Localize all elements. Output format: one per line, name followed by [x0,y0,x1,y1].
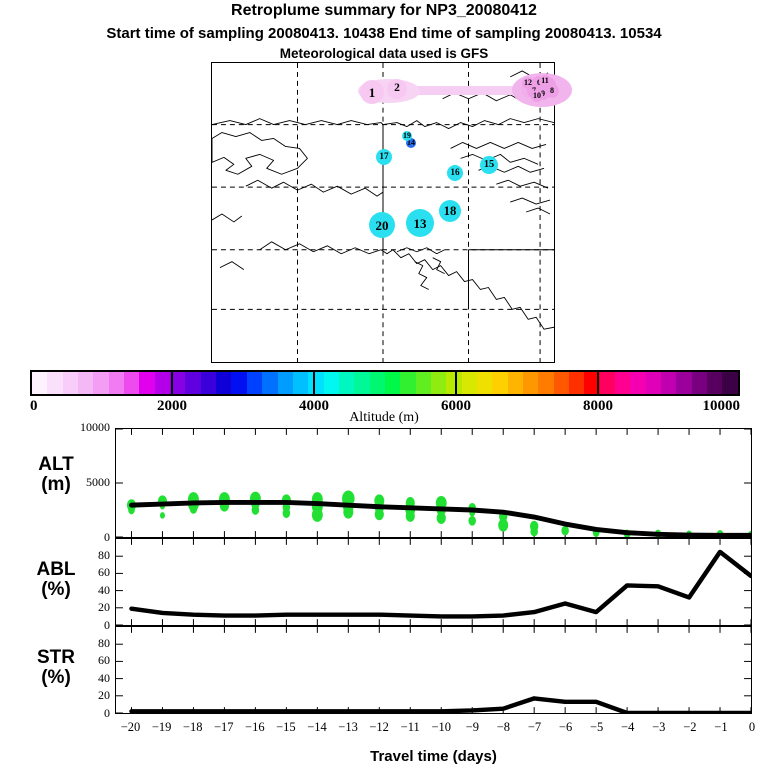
colorbar-segment [692,372,707,394]
abl-plot[interactable] [115,538,752,626]
colorbar-segment [262,372,277,394]
alt-scatter-point [283,508,291,518]
x-tick-label: −1 [704,720,738,735]
str-line [131,698,751,713]
colorbar-segment [185,372,200,394]
colorbar-segment [370,372,385,394]
colorbar-segment [676,372,691,394]
retroplume-map[interactable]: 1234567891011121314151617181920 [211,62,555,363]
colorbar-segment [646,372,661,394]
x-tick-label: −9 [455,720,489,735]
str-y-tick-label: 20 [36,688,110,703]
colorbar-segment [124,372,139,394]
colorbar-segment [600,372,615,394]
colorbar-segment [293,372,308,394]
colorbar [30,370,740,396]
colorbar-divider [455,370,457,396]
page-title: Retroplume summary for NP3_20080412 [0,2,768,20]
colorbar-segment [47,372,62,394]
x-tick-label: −11 [393,720,427,735]
alt-scatter-point [375,508,384,520]
alt-scatter-point [498,519,508,532]
abl-plot-graphic [116,539,751,625]
colorbar-segment [63,372,78,394]
map-marker-17[interactable]: 17 [376,149,392,165]
abl-line [131,552,751,617]
str-y-tick-label: 60 [36,653,110,668]
map-marker-11[interactable]: 11 [539,75,551,87]
x-tick-label: −12 [362,720,396,735]
abl-y-tick-label: 60 [36,565,110,580]
abl-y-tick-label: 40 [36,583,110,598]
colorbar-divider [597,370,599,396]
alt-scatter-point [406,510,415,522]
colorbar-segment [385,372,400,394]
map-marker-15[interactable]: 15 [480,156,498,174]
colorbar-segment [231,372,246,394]
sampling-time-line: Start time of sampling 20080413. 10438 E… [0,25,768,42]
colorbar-segment [155,372,170,394]
x-tick-label: 0 [735,720,768,735]
alt-scatter-point [561,526,569,536]
alt-y-tick-label: 0 [36,530,110,545]
x-tick-label: −5 [580,720,614,735]
colorbar-segment [722,372,737,394]
map-marker-13[interactable]: 13 [406,209,434,237]
map-marker-10[interactable]: 10 [531,90,543,102]
x-tick-label: −10 [424,720,458,735]
x-tick-label: −2 [673,720,707,735]
colorbar-gradient [30,370,740,396]
colorbar-divider [171,370,173,396]
alt-y-tick-label: 5000 [36,475,110,490]
colorbar-segment [554,372,569,394]
x-tick-label: −14 [300,720,334,735]
colorbar-segment [707,372,722,394]
map-marker-12[interactable]: 12 [522,77,534,89]
colorbar-segment [615,372,630,394]
colorbar-segment [431,372,446,394]
map-marker-16[interactable]: 16 [447,165,463,181]
colorbar-segment [630,372,645,394]
colorbar-segment [324,372,339,394]
x-tick-label: −19 [145,720,179,735]
map-marker-19[interactable]: 19 [402,131,412,141]
map-marker-20[interactable]: 20 [369,212,395,238]
str-plot[interactable] [115,626,752,714]
colorbar-segment [508,372,523,394]
x-tick-label: −16 [238,720,272,735]
colorbar-segment [201,372,216,394]
meteorology-line: Meteorological data used is GFS [0,46,768,61]
x-tick-label: −6 [549,720,583,735]
colorbar-segment [354,372,369,394]
colorbar-segment [339,372,354,394]
colorbar-segment [477,372,492,394]
colorbar-segment [523,372,538,394]
map-marker-1[interactable]: 1 [360,80,384,104]
alt-label-line1: ALT [8,455,104,475]
colorbar-segment [416,372,431,394]
str-y-tick-label: 40 [36,671,110,686]
colorbar-segment [93,372,108,394]
alt-plot[interactable] [115,428,752,538]
x-tick-label: −8 [486,720,520,735]
map-marker-2[interactable]: 2 [387,79,407,99]
colorbar-segment [492,372,507,394]
colorbar-segment [278,372,293,394]
colorbar-segment [538,372,553,394]
colorbar-divider [313,370,315,396]
colorbar-segment [661,372,676,394]
str-y-tick-label: 0 [36,706,110,721]
colorbar-segment [569,372,584,394]
alt-scatter-point [468,516,476,526]
x-axis-title: Travel time (days) [115,748,752,765]
alt-y-tick-label: 10000 [36,420,110,435]
colorbar-segment [247,372,262,394]
str-plot-graphic [116,627,751,713]
colorbar-segment [109,372,124,394]
x-tick-label: −13 [331,720,365,735]
colorbar-segment [216,372,231,394]
x-tick-label: −15 [269,720,303,735]
alt-scatter-point [312,508,323,522]
x-tick-label: −18 [176,720,210,735]
alt-plot-graphic [116,429,751,537]
str-y-tick-label: 80 [36,636,110,651]
x-tick-label: −17 [207,720,241,735]
colorbar-title: Altitude (m) [0,410,768,426]
x-tick-label: −20 [114,720,148,735]
alt-scatter-point [252,505,260,515]
alt-scatter-point [160,512,165,518]
alt-scatter-point [530,527,538,537]
x-tick-label: −3 [642,720,676,735]
x-tick-label: −7 [517,720,551,735]
colorbar-segment [32,372,47,394]
colorbar-segment [78,372,93,394]
map-marker-18[interactable]: 18 [439,200,461,222]
colorbar-segment [308,372,323,394]
abl-y-tick-label: 20 [36,600,110,615]
abl-y-tick-label: 0 [36,618,110,633]
colorbar-segment [462,372,477,394]
colorbar-segment [139,372,154,394]
colorbar-segment [446,372,461,394]
abl-y-tick-label: 80 [36,548,110,563]
colorbar-segment [400,372,415,394]
x-tick-label: −4 [611,720,645,735]
alt-scatter-point [437,512,446,524]
